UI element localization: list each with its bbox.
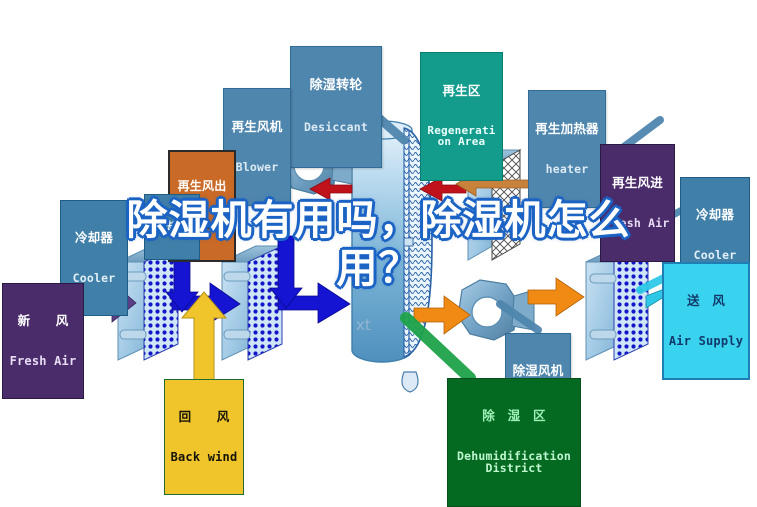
label-exhaust-cn: 再生风出 [173, 180, 231, 193]
label-fresh-air-in-en: Fresh Air [6, 355, 80, 368]
label-dehumidification-district-en: Dehumidification District [451, 450, 577, 475]
label-back-wind[interactable]: 回 风 Back wind [164, 379, 244, 495]
watermark-text: xt [356, 316, 371, 334]
label-back-wind-cn: 回 风 [168, 410, 240, 424]
label-regeneration-area-cn: 再生区 [424, 84, 499, 98]
label-desiccant-rotor[interactable]: 除湿转轮 Desiccant [290, 46, 382, 168]
label-air-supply[interactable]: 送 风 Air Supply [662, 262, 750, 380]
label-regen-fresh-air[interactable]: 再生风进 Fresh Air [600, 144, 675, 262]
label-regeneration-heater-cn: 再生加热器 [532, 122, 602, 136]
label-cooler-right-cn: 冷却器 [684, 208, 746, 222]
label-regen-fresh-air-cn: 再生风进 [604, 176, 671, 190]
label-desiccant-rotor-cn: 除湿转轮 [294, 79, 378, 93]
supply-coil-right [586, 246, 648, 360]
label-regeneration-blower-en: Blower [227, 161, 287, 173]
label-cooler-left-2-cn: 冷却器 [148, 221, 196, 233]
label-fresh-air-in[interactable]: 新 风 Fresh Air [2, 283, 84, 399]
label-regeneration-heater[interactable]: 再生加热器 heater [528, 90, 606, 208]
label-dehumidification-blower-cn: 除湿风机 [509, 364, 567, 378]
label-air-supply-en: Air Supply [667, 335, 745, 348]
label-cooler-left-1-cn: 冷却器 [64, 231, 124, 245]
label-back-wind-en: Back wind [168, 451, 240, 464]
label-regeneration-area-en: Regenerati on Area [424, 125, 499, 149]
label-regeneration-heater-en: heater [532, 163, 602, 175]
arrow-blower-to-supply [528, 278, 584, 316]
label-dehumidification-district-cn: 除 湿 区 [451, 409, 577, 423]
label-cooler-left-2[interactable]: 冷却器 [144, 194, 200, 260]
condensate-drain [402, 372, 418, 392]
label-regen-fresh-air-en: Fresh Air [604, 217, 671, 229]
label-regeneration-area[interactable]: 再生区 Regenerati on Area [420, 52, 503, 181]
diagram-canvas: xt 除湿转轮 Desiccant 再生风机 Blower 再生区 Regene… [0, 0, 757, 488]
label-fresh-air-in-cn: 新 风 [6, 314, 80, 328]
label-regeneration-blower-cn: 再生风机 [227, 120, 287, 134]
label-cooler-right-en: Cooler [684, 249, 746, 261]
label-desiccant-rotor-en: Desiccant [294, 121, 378, 133]
label-air-supply-cn: 送 风 [667, 294, 745, 308]
dehumidification-blower [458, 280, 534, 340]
